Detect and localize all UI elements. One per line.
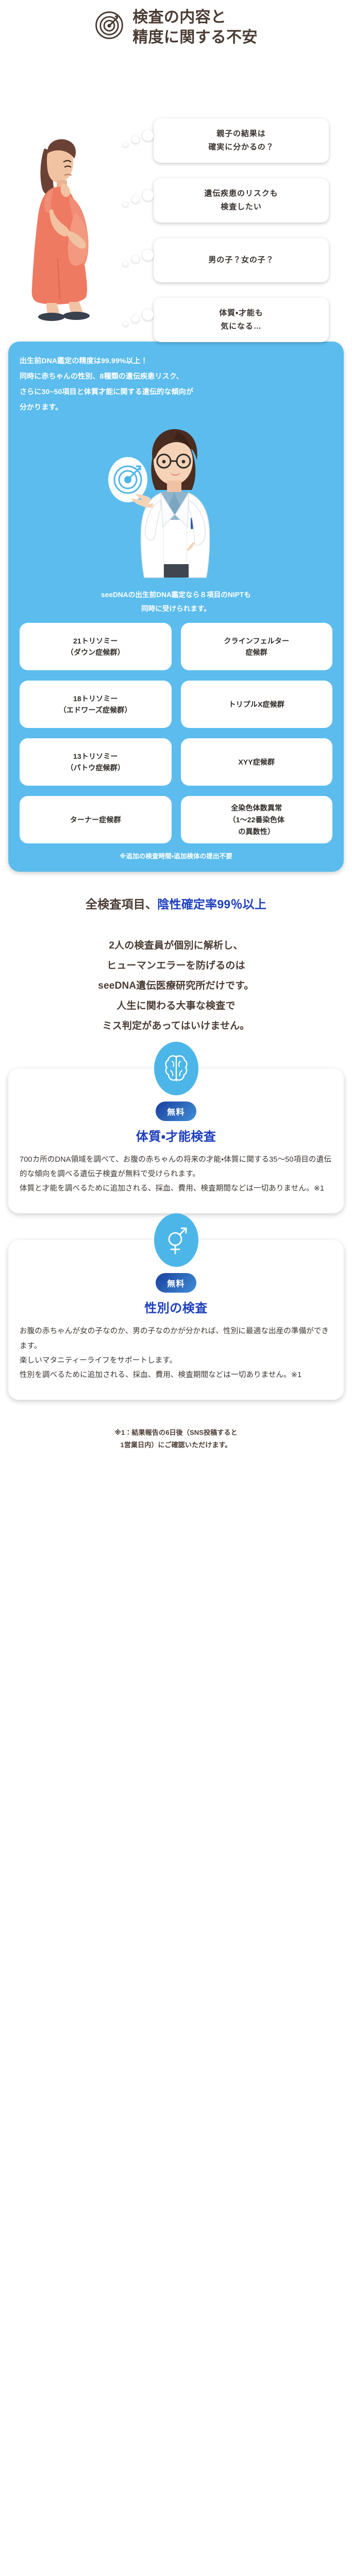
bubble-text: 親子の結果は 確実に分かるの？ [208, 127, 274, 155]
condition-cell: XYY症候群 [181, 738, 333, 786]
feature-title: 性別の検査 [20, 1298, 332, 1316]
page-header: 検査の内容と 精度に関する不安 [0, 0, 352, 47]
bubble-item: 体質・才能も 気になる… [154, 298, 329, 342]
statement-section: 全検査項目、陰性確定率99％以上 2人の検査員が個別に解析し、 ヒューマンエラー… [0, 895, 352, 1036]
feature-card-list: 無料 体質・才能検査 700カ所のDNA領域を調べて、お腹の赤ちゃんの将来の才能… [0, 1069, 352, 1400]
statement-body: 2人の検査員が個別に解析し、 ヒューマンエラーを防げるのは seeDNA遺伝医療… [0, 936, 352, 1037]
condition-label: 18トリソミー （エドワーズ症候群） [59, 693, 132, 716]
feature-description: お腹の赤ちゃんが女の子なのか、男の子なのかが分かれば、性別に最適な出産の準備がで… [20, 1324, 332, 1382]
condition-label: トリプルX症候群 [229, 699, 284, 710]
target-icon [94, 10, 124, 40]
page-root: 検査の内容と 精度に関する不安 [0, 0, 352, 2576]
bubble-text: 遺伝疾患のリスクも 検査したい [204, 187, 278, 214]
blue-info-panel: 出生前DNA鑑定の精度は99.99%以上！ 同時に赤ちゃんの性別、8種類の遺伝疾… [8, 342, 344, 872]
condition-cell: トリプルX症候群 [181, 681, 333, 728]
feature-card-gender: 無料 性別の検査 お腹の赤ちゃんが女の子なのか、男の子なのかが分かれば、性別に最… [8, 1240, 344, 1400]
condition-grid: 21トリソミー （ダウン症候群） クラインフェルター 症候群 18トリソミー （… [20, 623, 332, 843]
condition-label: 全染色体数異常 （1〜22番染色体 の異数性） [228, 802, 284, 837]
thought-dots-icon [116, 246, 153, 272]
panel-note: ※追加の検査時間・追加検体の提出不要 [20, 851, 332, 860]
free-badge: 無料 [156, 1101, 196, 1121]
condition-label: XYY症候群 [238, 756, 275, 768]
condition-label: ターナー症候群 [70, 814, 121, 826]
feature-description: 700カ所のDNA領域を調べて、お腹の赤ちゃんの将来の才能・体質に関する35〜5… [20, 1153, 332, 1196]
condition-label: クラインフェルター 症候群 [224, 635, 289, 658]
bubble-item: 遺伝疾患のリスクも 検査したい [154, 178, 329, 223]
statement-heading-brown: 全検査項目、 [86, 897, 157, 911]
worry-section: 親子の結果は 確実に分かるの？ 遺伝疾患のリスクも 検査したい 男の子？女の子？… [0, 53, 352, 333]
free-badge: 無料 [156, 1273, 196, 1293]
brain-icon [154, 1042, 198, 1095]
thought-dots-icon [116, 187, 153, 212]
thought-dots-icon [116, 127, 153, 152]
female-doctor-illustration [99, 417, 254, 587]
condition-cell: 21トリソミー （ダウン症候群） [20, 623, 172, 670]
gender-icon [154, 1213, 198, 1267]
bubble-list: 親子の結果は 確実に分かるの？ 遺伝疾患のリスクも 検査したい 男の子？女の子？… [154, 118, 329, 342]
condition-cell: ターナー症候群 [20, 796, 172, 843]
statement-heading-blue: 陰性確定率99％以上 [157, 897, 266, 911]
condition-cell: 全染色体数異常 （1〜22番染色体 の異数性） [181, 796, 333, 843]
blue-panel-sub: seeDNAの出生前DNA鑑定なら８項目のNIPTも 同時に受けられます。 [20, 588, 332, 616]
feature-card-constitution: 無料 体質・才能検査 700カ所のDNA領域を調べて、お腹の赤ちゃんの将来の才能… [8, 1069, 344, 1214]
statement-heading: 全検査項目、陰性確定率99％以上 [0, 895, 352, 913]
bubble-text: 男の子？女の子？ [208, 253, 274, 267]
condition-cell: 13トリソミー （パトウ症候群） [20, 738, 172, 786]
bubble-text: 体質・才能も 気になる… [219, 307, 263, 334]
condition-label: 13トリソミー （パトウ症候群） [66, 751, 125, 774]
feature-title: 体質・才能検査 [20, 1126, 332, 1144]
page-title: 検査の内容と 精度に関する不安 [132, 7, 257, 47]
condition-label: 21トリソミー （ダウン症候群） [66, 635, 125, 658]
doctor-illustration-wrap [20, 417, 332, 587]
condition-cell: クラインフェルター 症候群 [181, 623, 333, 670]
bubble-item: 男の子？女の子？ [154, 238, 329, 282]
bubble-item: 親子の結果は 確実に分かるの？ [154, 118, 329, 163]
blue-panel-lead: 出生前DNA鑑定の精度は99.99%以上！ 同時に赤ちゃんの性別、8種類の遺伝疾… [20, 353, 332, 415]
pregnant-woman-illustration [20, 130, 102, 321]
condition-cell: 18トリソミー （エドワーズ症候群） [20, 681, 172, 728]
footnote: ※1：結果報告の6日後（SNS投稿すると 1営業日内）にご確認いただけます。 [8, 1427, 344, 1451]
thought-dots-icon [116, 306, 153, 332]
